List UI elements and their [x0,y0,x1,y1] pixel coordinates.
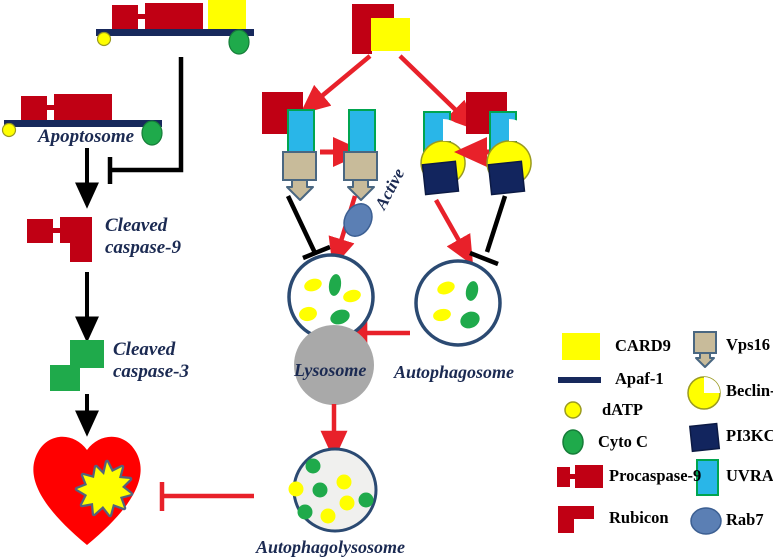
card9-distribution-arrows [311,56,466,120]
autophagosome-vesicle [416,261,500,345]
legend-vps16-icon [694,332,716,367]
autophagolysosome-vesicle [289,449,377,531]
injured-heart-icon [33,437,140,545]
legend-label-datp: dATP [602,402,643,419]
pathway-diagram: Apoptosome Cleaved caspase-9 Cleaved cas… [0,0,773,560]
datp-circle-icon-2 [3,124,16,137]
autophagolysosome-label: Autophagolysosome [256,538,405,557]
card9-apoptosome-complex [96,0,254,54]
vps16-body-icon-2 [344,152,377,180]
legend-label-uvrag: UVRAG [726,468,773,485]
legend-label-pi3kc3: PI3KC3 [726,428,773,445]
pi3kc3-square-icon-1 [423,161,459,194]
card9-to-left-complex-arrow [311,56,370,105]
complex-rubicon-uvrag-beclin-pi3kc3 [466,92,531,195]
legend-label-rubicon: Rubicon [609,510,669,527]
vps16-body-icon-1 [283,152,316,180]
card9-rect-icon [208,0,246,29]
procaspase9-left-lobe-icon-2 [21,96,47,120]
legend-datp-icon [565,402,581,418]
datp-circle-icon [98,33,111,46]
cytoc-ellipse-icon [229,30,249,54]
cleaved-caspase3-label-line1: Cleaved [113,340,175,360]
complex4-inhibits-autophagosome-arrow [470,196,505,264]
procaspase9-left-lobe-icon [112,5,138,29]
legend-procaspase9-icon [557,465,603,488]
apoptosome-label: Apoptosome [38,127,134,147]
legend-apaf1-icon [558,377,601,383]
rubicon-card9-node [352,4,410,54]
legend-rab7-icon [691,508,721,534]
cleaved-caspase3-icon [50,340,104,391]
complex-uvrag-beclin-pi3kc3 [421,112,465,195]
complex-uvrag-vps16 [344,110,377,200]
cytoc-ellipse-icon-2 [142,121,162,145]
cleaved-caspase9-label-line1: Cleaved [105,216,167,236]
cleaved-caspase9-icon [27,217,92,262]
card9-rect-icon-2 [371,18,410,51]
legend-label-apaf1: Apaf-1 [615,371,664,388]
card9-to-right-complex-arrow [400,56,466,120]
complex-rubicon-uvrag-vps16-left [262,92,316,200]
beclin1-notch-icon-1 [443,119,465,141]
legend-label-cytoc: Cyto C [598,434,648,451]
pi3kc3-square-icon-2 [489,161,525,194]
legend-label-beclin1: Beclin-1 [726,383,773,400]
legend-beclin1-icon [688,377,720,409]
autophagosome-label: Autophagosome [394,363,514,382]
cleaved-caspase3-label-line2: caspase-3 [113,362,189,382]
legend-rubicon-icon [558,506,594,533]
legend-label-vps16: Vps16 [726,337,770,354]
autophagy-inhibits-injury-arrow [162,482,254,511]
vps16-arrow-icon-2 [348,180,374,200]
procaspase9-right-lobe-icon-2 [54,94,112,120]
procaspase9-right-lobe-icon [145,3,203,29]
legend-label-procaspase9: Procaspase-9 [609,468,701,485]
beclin1-notch-icon-2 [509,119,531,141]
complex3-activates-autophagosome-arrow [436,200,466,253]
lysosome-label: Lysosome [294,361,366,380]
legend-label-rab7: Rab7 [726,512,764,529]
legend-cytoc-icon [563,430,583,454]
complex1-inhibits-fusion-arrow [288,196,330,258]
uvrag-rect-icon-2 [349,110,375,154]
legend-label-card9: CARD9 [615,338,671,355]
legend-card9-icon [562,333,600,360]
cleaved-caspase9-label-line2: caspase-9 [105,238,181,258]
uvrag-rect-icon-1 [288,110,314,154]
legend-pi3kc3-icon [690,424,719,452]
